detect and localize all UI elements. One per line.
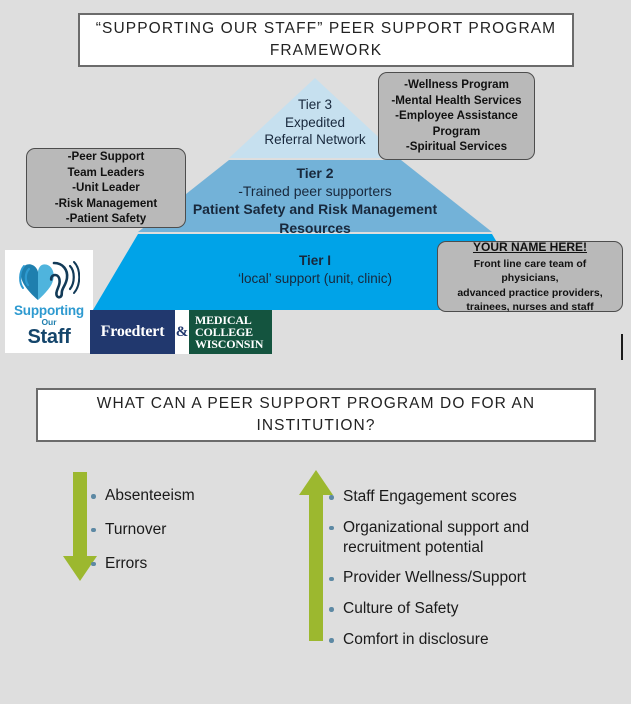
- framework-title-text: “SUPPORTING OUR STAFF” PEER SUPPORT PROG…: [80, 18, 572, 62]
- sos-logo-word-staff: Staff: [28, 327, 71, 347]
- list-item: Staff Engagement scores: [328, 487, 578, 507]
- framework-title-banner: “SUPPORTING OUR STAFF” PEER SUPPORT PROG…: [78, 13, 574, 67]
- callout-tier3-line-2: -Employee Assistance: [395, 108, 518, 123]
- decrease-outcomes-list: Absenteeism Turnover Errors: [90, 486, 270, 587]
- callout-tier1-line-0: Front line care team of physicians,: [444, 257, 616, 285]
- list-item: Turnover: [90, 520, 270, 540]
- callout-tier1-headline: YOUR NAME HERE!: [473, 239, 587, 255]
- callout-tier2-line-0: -Peer Support: [68, 149, 145, 164]
- supporting-our-staff-logo: Supporting Our Staff: [5, 250, 93, 353]
- mcw-line-wisconsin: WISCONSIN: [195, 338, 263, 350]
- callout-tier2-line-1: Team Leaders: [67, 165, 144, 180]
- sos-logo-word-supporting: Supporting: [14, 304, 84, 318]
- callout-tier2-line-3: -Risk Management: [55, 196, 157, 211]
- callout-tier1-your-name-here: YOUR NAME HERE! Front line care team of …: [437, 241, 623, 312]
- institution-question-text: WHAT CAN A PEER SUPPORT PROGRAM DO FOR A…: [38, 393, 594, 437]
- list-item: Absenteeism: [90, 486, 270, 506]
- list-item: Errors: [90, 554, 270, 574]
- callout-tier2-line-2: -Unit Leader: [72, 180, 140, 195]
- increase-outcomes-list: Staff Engagement scores Organizational s…: [328, 487, 578, 661]
- ampersand-logo: &: [175, 310, 189, 354]
- callout-tier2-line-4: -Patient Safety: [66, 211, 147, 226]
- callout-tier3-line-4: -Spiritual Services: [406, 139, 507, 154]
- heart-ear-icon: [18, 256, 80, 302]
- froedtert-logo: Froedtert: [90, 310, 175, 354]
- callout-tier3-services: -Wellness Program -Mental Health Service…: [378, 72, 535, 160]
- institution-question-banner: WHAT CAN A PEER SUPPORT PROGRAM DO FOR A…: [36, 388, 596, 442]
- callout-tier3-line-1: -Mental Health Services: [391, 93, 521, 108]
- list-item: Comfort in disclosure: [328, 630, 578, 650]
- callout-tier3-line-0: -Wellness Program: [404, 77, 509, 92]
- medical-college-of-wisconsin-logo: MEDICAL COLLEGE WISCONSIN: [189, 310, 272, 354]
- list-item: Culture of Safety: [328, 599, 578, 619]
- list-item: Provider Wellness/Support: [328, 568, 578, 588]
- callout-tier1-line-2: trainees, nurses and staff: [466, 300, 593, 314]
- callout-tier2-roles: -Peer Support Team Leaders -Unit Leader …: [26, 148, 186, 228]
- list-item: Organizational support and recruitment p…: [328, 518, 578, 558]
- edge-artifact-mark: [621, 334, 623, 360]
- callout-tier1-line-1: advanced practice providers,: [457, 286, 602, 300]
- pyramid-tier2-shape: [138, 160, 492, 232]
- pyramid-tier3-shape: [229, 78, 401, 158]
- slide-canvas: “SUPPORTING OUR STAFF” PEER SUPPORT PROG…: [0, 0, 632, 704]
- callout-tier3-line-3: Program: [433, 124, 481, 139]
- froedtert-mcw-logo: Froedtert & MEDICAL COLLEGE WISCONSIN: [90, 310, 272, 354]
